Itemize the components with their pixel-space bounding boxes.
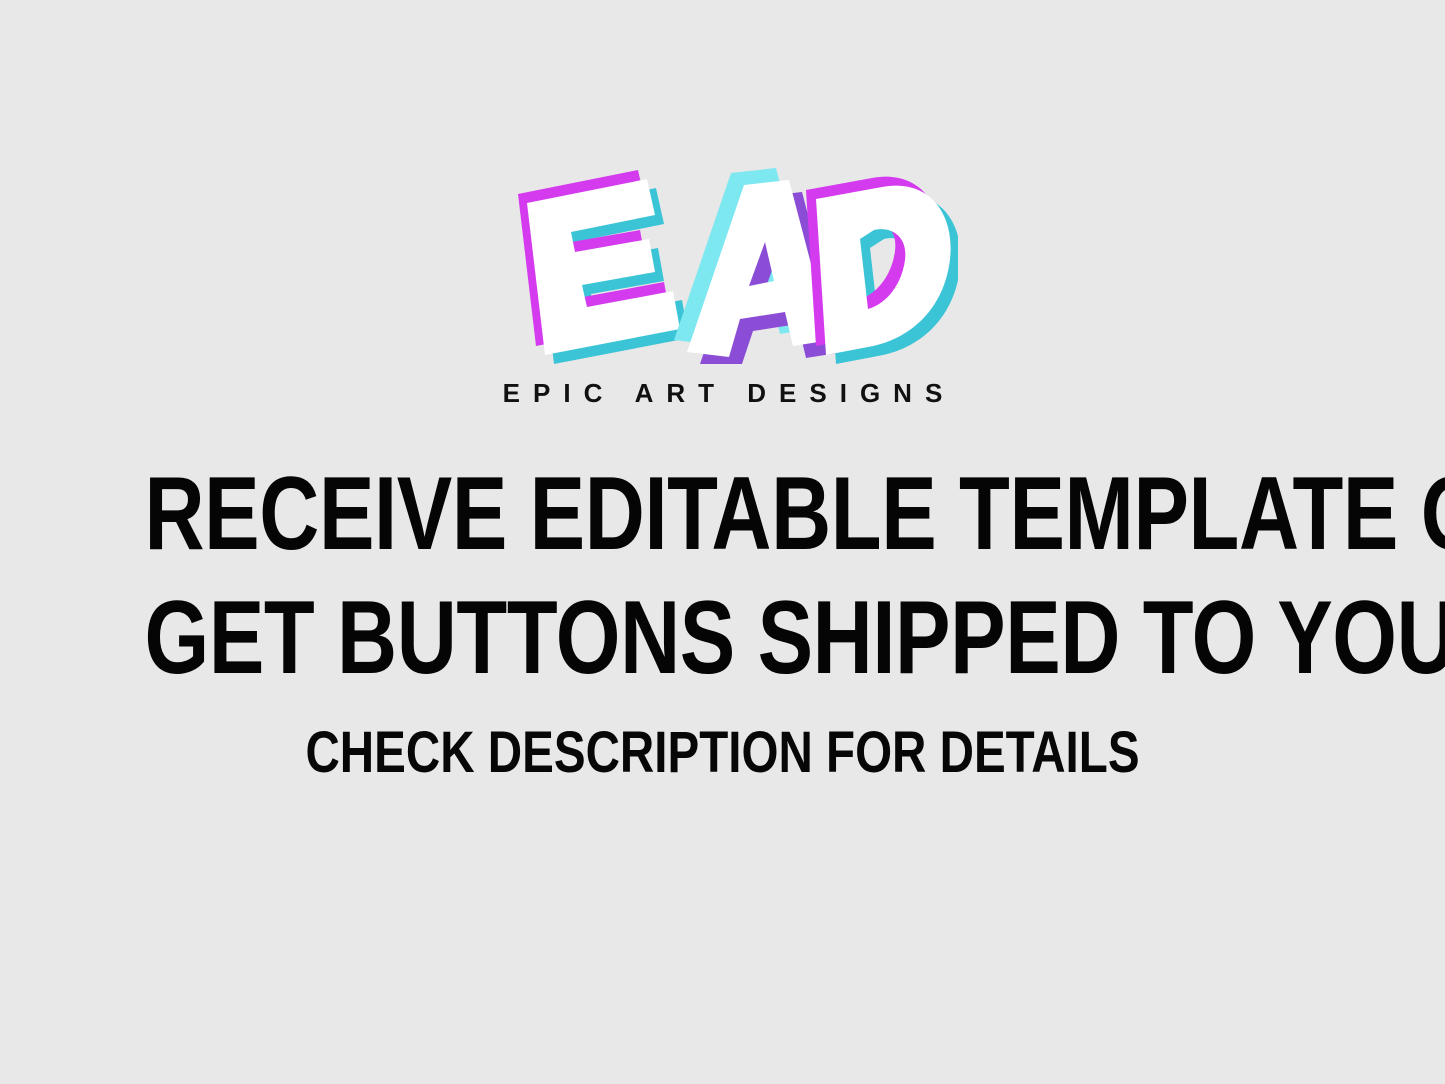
brand-tagline: EPIC ART DESIGNS xyxy=(490,380,956,406)
headline-line-1: RECEIVE EDITABLE TEMPLATE OR xyxy=(145,452,1301,576)
brand-logo: EPIC ART DESIGNS xyxy=(0,168,1445,406)
ead-logomark xyxy=(488,168,958,364)
slide-canvas: EPIC ART DESIGNS RECEIVE EDITABLE TEMPLA… xyxy=(0,0,1445,1084)
headline: RECEIVE EDITABLE TEMPLATE OR GET BUTTONS… xyxy=(145,452,1301,700)
subheading: CHECK DESCRIPTION FOR DETAILS xyxy=(130,722,1315,784)
headline-line-2: GET BUTTONS SHIPPED TO YOU! xyxy=(145,576,1301,700)
